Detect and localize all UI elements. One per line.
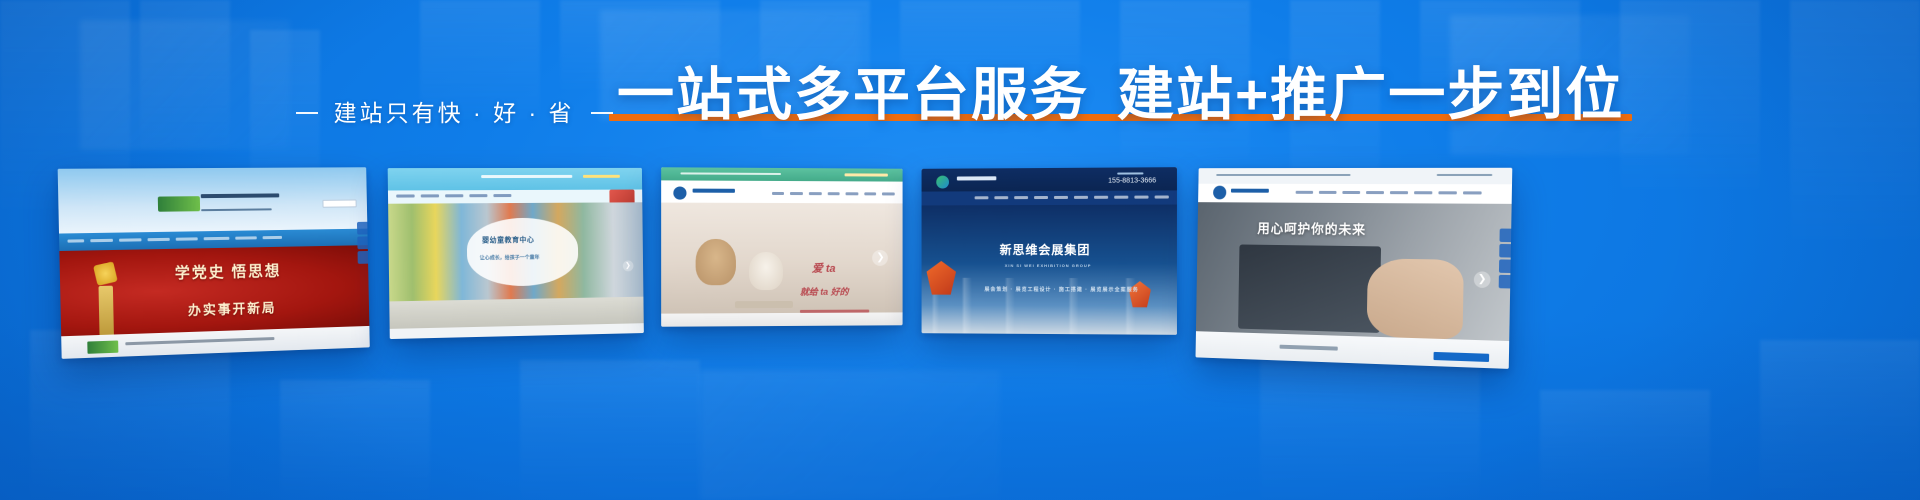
card4-headline-line2: XIN SI WEI EXHIBITION GROUP [1005,263,1092,268]
card1-footer-logo [87,341,118,354]
card5-header-text [1216,174,1350,176]
page-title: 一站式多平台服务建站+推广一步到位 [617,62,1624,129]
card5-laptop-icon [1238,244,1381,332]
card4-headline-line3: 展会策划 · 展览工程设计 · 施工搭建 · 展览展示全案服务 [984,286,1138,293]
card5-side-tabs[interactable] [1499,228,1512,290]
card4-phone-label [1117,172,1143,174]
showcase-card-kindergarten-site[interactable]: 婴幼童教育中心 让心成长，给孩子一个童年 ❯ [388,168,644,339]
card3-cat-right-icon [749,252,783,290]
showcase-card-exhibition-site[interactable]: 155-8813-3666 新思维会展集团 XIN SI WEI EXHIBIT… [922,167,1177,335]
card1-side-tabs[interactable] [357,221,368,265]
card2-headline-line2: 让心成长，给孩子一个童年 [480,253,540,261]
card2-header-phone [583,175,620,178]
title-part-two: 建站+推广一步到位 [1117,63,1624,127]
hero-banner: 建站只有快 · 好 · 省 一站式多平台服务建站+推广一步到位 [0,0,1920,500]
card3-headline-line2: 就给 ta 好的 [800,285,849,298]
showcase-strip: 学党史 悟思想 办实事开新局 [0,168,1920,383]
card5-headline-line1: 用心呵护你的未来 [1257,218,1366,238]
card1-sky [58,167,368,233]
showcase-card-party-site[interactable]: 学党史 悟思想 办实事开新局 [58,167,370,359]
headline-block: 建站只有快 · 好 · 省 一站式多平台服务建站+推广一步到位 [0,44,1920,129]
card3-topbar-phone [845,173,888,176]
card4-logo-icon [937,175,950,188]
card2-header-text [481,175,572,178]
card4-logo-text [957,177,996,181]
card5-header-phone [1437,174,1493,176]
card3-bowl-icon [735,301,793,308]
card3-headline-line1: 爱 ta [812,260,836,276]
card1-search-box[interactable] [323,200,357,208]
eyebrow-tagline: 建站只有快 · 好 · 省 [296,102,613,125]
card2-headline-line1: 婴幼童教育中心 [482,235,534,246]
dash-left-icon [296,112,318,114]
card5-logo-icon [1213,185,1226,199]
card3-nav-items[interactable] [764,192,903,196]
card3-cat-left-icon [695,239,735,285]
card1-logo [157,196,199,212]
card3-logo-icon [673,186,686,199]
card1-headline-line1: 学党史 悟思想 [175,259,282,282]
card5-logo-text [1231,189,1269,193]
card2-header [388,168,642,190]
card2-next-arrow-icon[interactable]: ❯ [623,261,634,272]
card5-hand-icon [1367,258,1465,339]
card4-phone-number: 155-8813-3666 [1108,177,1156,184]
title-part-one: 一站式多平台服务 [617,63,1089,127]
card4-headline-line1: 新思维会展集团 [1000,241,1091,258]
card2-speech-bubble [466,218,578,287]
card1-company-name [201,193,279,198]
showcase-card-pet-site[interactable]: 爱 ta 就给 ta 好的 ❯ [661,167,902,326]
card3-footer [661,313,902,327]
card3-logo-text [693,188,735,192]
eyebrow-text: 建站只有快 · 好 · 省 [334,102,575,125]
card1-headline-line2: 办实事开新局 [188,298,277,320]
showcase-card-business-site[interactable]: 用心呵护你的未来 ❯ [1196,168,1513,369]
